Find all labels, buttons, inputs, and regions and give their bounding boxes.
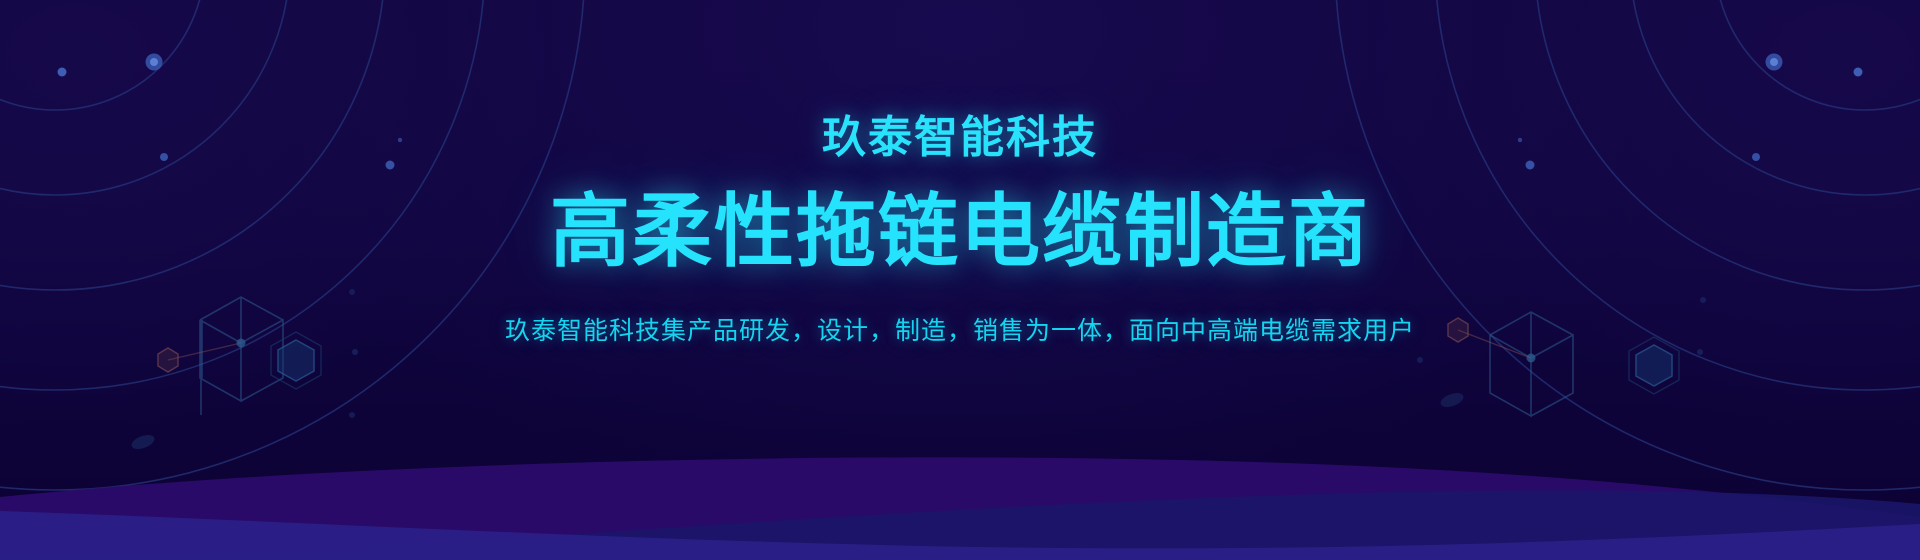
brand-name: 玖泰智能科技	[822, 116, 1098, 160]
page-title: 高柔性拖链电缆制造商	[550, 192, 1370, 272]
hero-banner: 玖泰智能科技 高柔性拖链电缆制造商 玖泰智能科技集产品研发，设计，制造，销售为一…	[0, 0, 1920, 560]
hero-content: 玖泰智能科技 高柔性拖链电缆制造商 玖泰智能科技集产品研发，设计，制造，销售为一…	[0, 0, 1920, 560]
hero-tagline: 玖泰智能科技集产品研发，设计，制造，销售为一体，面向中高端电缆需求用户	[505, 316, 1415, 346]
